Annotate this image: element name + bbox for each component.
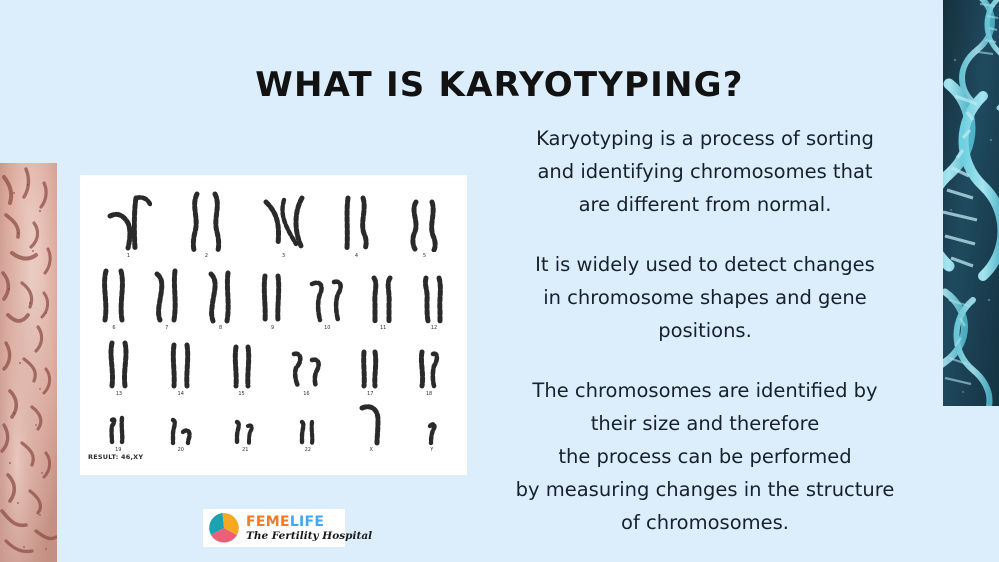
chromosome-pair: 15 xyxy=(229,344,255,397)
chromosome-pair-glyph xyxy=(229,344,255,390)
chromosome-pair-glyph xyxy=(368,274,398,324)
dna-double-helix-illustration xyxy=(943,0,999,406)
chromosome-label: 20 xyxy=(178,447,184,453)
karyotype-row: 13 14 xyxy=(88,331,459,397)
right-dna-photo xyxy=(943,0,999,406)
chromosome-label: 3 xyxy=(282,253,285,259)
logo-word-life: LIFE xyxy=(290,514,324,530)
karyotype-result-text: RESULT: 46,XY xyxy=(88,453,143,461)
paragraph-line: of chromosomes. xyxy=(495,506,915,539)
chromosome-label: 5 xyxy=(423,253,426,259)
chromosome-pair: 22 xyxy=(296,418,320,453)
chromosome-pair-glyph xyxy=(420,274,448,324)
paragraph-line: by measuring changes in the structure xyxy=(495,473,915,506)
chromosome-pair-glyph xyxy=(341,194,373,252)
chromosome-pair-glyph xyxy=(151,268,183,324)
chromosome-pair-glyph xyxy=(106,414,130,446)
chromosome-pair-glyph xyxy=(231,418,259,446)
chromosome-pair-glyph xyxy=(288,346,324,390)
chromosome-label: 16 xyxy=(303,391,309,397)
chromosome-x-glyph xyxy=(356,402,386,446)
chromosome-y-glyph xyxy=(423,420,441,446)
chromosome-pair: 16 xyxy=(288,346,324,397)
chromosome-pair: 18 xyxy=(416,348,442,397)
chromosome-label: 12 xyxy=(431,325,437,331)
slide-canvas: WHAT IS KARYOTYPING? 1 xyxy=(0,0,999,562)
logo-word-feme: FEME xyxy=(246,514,290,530)
chromosome-pair: 14 xyxy=(167,342,195,397)
chromosome-pair: 6 xyxy=(99,268,129,331)
chromosome-label: 21 xyxy=(242,447,248,453)
chromosome-pair-glyph xyxy=(105,340,133,390)
paragraph-line: positions. xyxy=(495,314,915,347)
femelife-logo: FEMELIFE The Fertility Hospital xyxy=(203,509,345,547)
karyotype-row: 1 2 xyxy=(88,181,459,259)
chromosome-pair: 17 xyxy=(358,348,382,397)
femelife-emblem-icon xyxy=(207,511,241,545)
chromosome-label: X xyxy=(370,447,373,453)
karyotype-row: 19 20 xyxy=(88,397,459,453)
chromosome-pair-glyph xyxy=(99,268,129,324)
chromosome-pair: 10 xyxy=(308,274,346,331)
paragraph-line: are different from normal. xyxy=(495,188,915,221)
chromosome-label: Y xyxy=(430,447,433,453)
chromosome-label: 17 xyxy=(367,391,373,397)
chromosome-pair: 5 xyxy=(408,198,442,259)
logo-tagline: The Fertility Hospital xyxy=(246,531,372,542)
chromosome-pair: 8 xyxy=(205,270,237,331)
chromosome-label: 10 xyxy=(324,325,330,331)
chromosome-label: 6 xyxy=(112,325,115,331)
paragraph-line: Karyotyping is a process of sorting xyxy=(495,122,915,155)
chromosome-label: 22 xyxy=(305,447,311,453)
chromosome-pair-glyph xyxy=(106,190,152,252)
chromosome-pair: Y xyxy=(423,420,441,453)
chromosome-label: 11 xyxy=(380,325,386,331)
chromosome-label: 18 xyxy=(426,391,432,397)
chromosome-pair: 13 xyxy=(105,340,133,397)
chromosome-pair-glyph xyxy=(187,190,227,252)
chromosome-label: 2 xyxy=(205,253,208,259)
chromosome-pair: 19 xyxy=(106,414,130,453)
chromosome-pair-glyph xyxy=(308,274,346,324)
chromosome-pair: 1 xyxy=(106,190,152,259)
chromosome-label: 7 xyxy=(165,325,168,331)
paragraph-line: their size and therefore xyxy=(495,407,915,440)
chromosome-label: 13 xyxy=(116,391,122,397)
chromosome-pair-glyph xyxy=(358,348,382,390)
body-text-column: Karyotyping is a process of sorting and … xyxy=(495,122,915,539)
left-chromosome-photo xyxy=(0,163,57,562)
chromosome-pair-glyph xyxy=(296,418,320,446)
chromosome-label: 14 xyxy=(178,391,184,397)
chromosome-pair: 21 xyxy=(231,418,259,453)
paragraph-line: and identifying chromosomes that xyxy=(495,155,915,188)
page-title: WHAT IS KARYOTYPING? xyxy=(0,67,999,104)
chromosome-label: 4 xyxy=(355,253,358,259)
paragraph-usage: It is widely used to detect changes in c… xyxy=(495,248,915,347)
paragraph-line: It is widely used to detect changes xyxy=(495,248,915,281)
chromosome-pair-glyph xyxy=(408,198,442,252)
paragraph-method: The chromosomes are identified by their … xyxy=(495,374,915,539)
karyotype-rows: 1 2 xyxy=(88,181,459,469)
karyotype-row: 6 7 xyxy=(88,259,459,331)
karyotype-image-card: 1 2 xyxy=(80,175,467,475)
chromosome-pair: 9 xyxy=(258,272,286,331)
logo-text-block: FEMELIFE The Fertility Hospital xyxy=(246,515,372,542)
chromosome-pair-glyph xyxy=(416,348,442,390)
chromosome-pair-glyph xyxy=(258,272,286,324)
chromosome-pair: 3 xyxy=(262,190,306,259)
chromosome-pair: 2 xyxy=(187,190,227,259)
paragraph-line: the process can be performed xyxy=(495,440,915,473)
paragraph-line: in chromosome shapes and gene xyxy=(495,281,915,314)
chromosome-label: 15 xyxy=(238,391,244,397)
chromosome-label: 1 xyxy=(127,253,130,259)
chromosome-pair: 4 xyxy=(341,194,373,259)
logo-wordmark: FEMELIFE xyxy=(246,515,372,529)
chromosome-label: 9 xyxy=(271,325,274,331)
chromosome-microscopy-illustration xyxy=(0,163,57,562)
chromosome-pair: 7 xyxy=(151,268,183,331)
chromosome-pair: 20 xyxy=(167,416,195,453)
chromosome-pair: 11 xyxy=(368,274,398,331)
paragraph-definition: Karyotyping is a process of sorting and … xyxy=(495,122,915,221)
chromosome-pair-glyph xyxy=(167,342,195,390)
chromosome-pair-glyph xyxy=(205,270,237,324)
chromosome-pair: X xyxy=(356,402,386,453)
chromosome-label: 8 xyxy=(219,325,222,331)
chromosome-pair-glyph xyxy=(167,416,195,446)
chromosome-pair-glyph xyxy=(262,190,306,252)
chromosome-pair: 12 xyxy=(420,274,448,331)
paragraph-line: The chromosomes are identified by xyxy=(495,374,915,407)
